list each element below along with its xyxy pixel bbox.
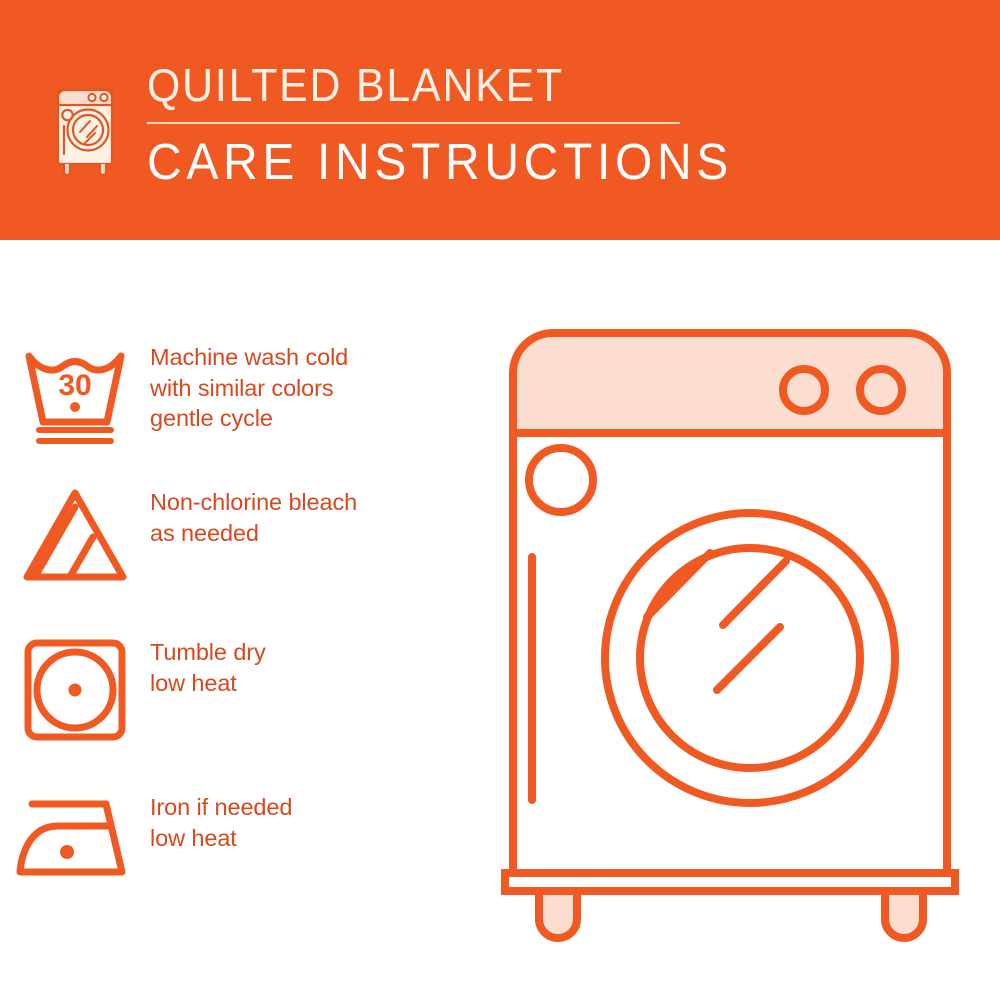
care-instruction-item: Tumble dry low heat <box>0 635 480 745</box>
page-title-main: QUILTED BLANKET <box>147 62 724 108</box>
header-band: QUILTED BLANKET CARE INSTRUCTIONS <box>0 0 1000 240</box>
header-text-block: QUILTED BLANKET CARE INSTRUCTIONS <box>147 62 767 187</box>
iron-low-heat-icon <box>0 790 150 880</box>
wash-temp-label: 30 <box>58 369 91 402</box>
care-instruction-text: Iron if needed low heat <box>150 790 480 853</box>
page-title-sub: CARE INSTRUCTIONS <box>147 136 730 187</box>
care-instruction-text: Non-chlorine bleach as needed <box>150 485 480 548</box>
care-instruction-text: Machine wash cold with similar colors ge… <box>150 340 480 434</box>
header-divider <box>147 122 680 124</box>
wash-tub-30-gentle-icon: 30 <box>0 340 150 448</box>
care-instruction-item: Iron if needed low heat <box>0 790 480 880</box>
front-load-washing-machine-illustration <box>495 325 965 945</box>
bleach-triangle-nonchlorine-icon <box>0 485 150 585</box>
care-instruction-text: Tumble dry low heat <box>150 635 480 698</box>
care-instruction-list: 30 Machine wash cold with similar colors… <box>0 240 480 1000</box>
machine-leg-group <box>539 891 923 938</box>
washing-machine-icon <box>44 68 120 180</box>
care-instruction-item: Non-chlorine bleach as needed <box>0 485 480 585</box>
care-instruction-item: 30 Machine wash cold with similar colors… <box>0 340 480 448</box>
tumble-dry-low-icon <box>0 635 150 745</box>
